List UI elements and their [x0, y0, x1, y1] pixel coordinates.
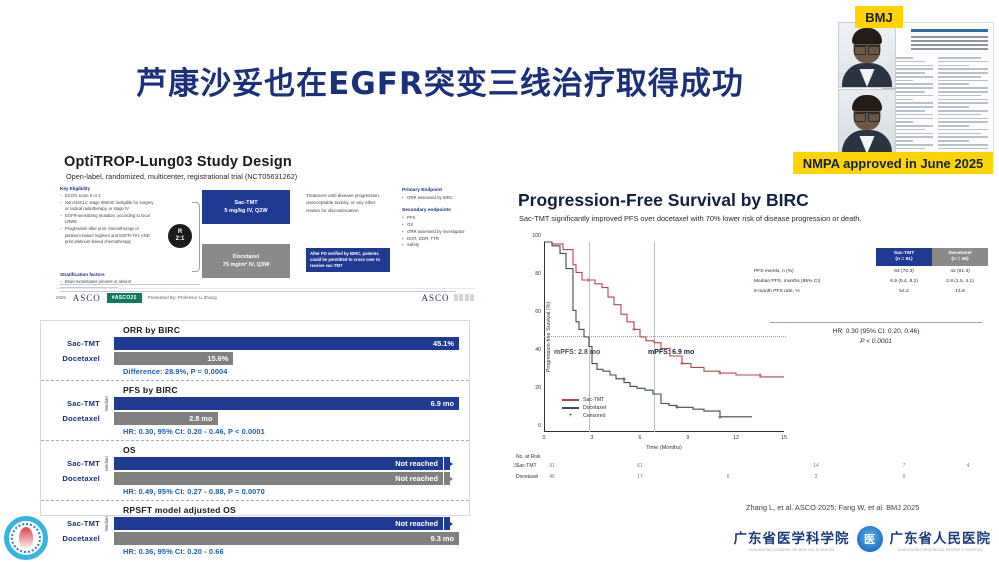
- cell-value-exp: 64 (70.3): [876, 266, 932, 276]
- group-statistic: HR: 0.36, 95% CI: 0.20 - 0.66: [123, 547, 459, 556]
- author-portrait-2: [838, 89, 896, 155]
- x-tick: 12: [733, 435, 739, 441]
- bar-track: 45.1%: [114, 337, 459, 350]
- group-statistic: HR: 0.30, 95% CI: 0.20 - 0.46, P < 0.000…: [123, 427, 459, 436]
- list-item: Non-NSCLC stage IIIB/IIIC ineligible for…: [60, 200, 156, 212]
- bar-value: 15.6%: [207, 354, 228, 363]
- paper-columns: [882, 57, 988, 150]
- emblem-flame-icon: [19, 527, 33, 549]
- x-tick: 0: [543, 435, 546, 441]
- axis-label: Median: [105, 456, 114, 471]
- eligibility-block: Key Eligibility ECOG score 0 or 1 Non-NS…: [60, 186, 156, 246]
- row-label: Sac-TMT: [49, 399, 105, 408]
- efficacy-group-orr: ORR by BIRC Sac-TMT 45.1% Docetaxel 15.6…: [41, 321, 469, 380]
- group-title: RPSFT model adjusted OS: [123, 505, 459, 515]
- y-tick: 60: [535, 309, 541, 315]
- efficacy-group-os: OS Sac-TMT Median Not reached Docetaxel …: [41, 440, 469, 500]
- legend-swatch-docetaxel: [562, 407, 579, 408]
- bar-value: 2.8 mo: [189, 414, 212, 423]
- column-header-blank: [752, 248, 876, 266]
- bar-track: Not reached: [114, 472, 459, 485]
- header-line-2: (n = 46): [951, 257, 968, 262]
- glasses-icon: [854, 45, 880, 52]
- legend-label: Docetaxel: [583, 405, 606, 411]
- bar-fill: 45.1%: [114, 337, 459, 350]
- author-portrait-1: [838, 22, 896, 88]
- risk-value: 7: [903, 463, 906, 469]
- censor-marks: [586, 278, 762, 377]
- bar-track: 15.6%: [114, 352, 459, 365]
- hospital-name-en: GUANGDONG PROVINCIAL PEOPLE'S HOSPITAL: [897, 548, 983, 552]
- bar-track: 6.9 mo: [114, 397, 459, 410]
- endpoints-block: Primary Endpoint ORR assessed by BIRC Se…: [402, 188, 476, 249]
- legend-swatch-sac-tmt: [562, 399, 579, 400]
- table-row: Median PFS, months (95% CI) 6.9 (5.4, 8.…: [752, 276, 988, 286]
- citation-text: Zhang L, et al. ASCO 2025; Fang W, et al…: [746, 503, 919, 512]
- km-title: Progression-Free Survival by BIRC: [518, 190, 809, 211]
- asco-logo-secondary: ASCO: [421, 293, 449, 303]
- efficacy-group-rpsft-os: RPSFT model adjusted OS Sac-TMT Median N…: [41, 500, 469, 560]
- x-tick: 6: [639, 435, 642, 441]
- table-row: PFS events, n (%) 64 (70.3) 42 (91.3): [752, 266, 988, 276]
- list-item: Safety: [402, 242, 476, 249]
- bmj-journal-badge: BMJ: [855, 6, 903, 28]
- portrait-hair: [852, 28, 882, 44]
- row-label: Sac-TMT: [49, 459, 105, 468]
- risk-row-label: Docetaxel: [516, 474, 538, 480]
- list-item: ORR assessed by BIRC: [402, 195, 476, 202]
- table-header-row: Sac-TMT (n = 91) Docetaxel (n = 46): [752, 248, 988, 266]
- risk-value: 91: [549, 463, 555, 469]
- row-label: Sac-TMT: [49, 519, 105, 528]
- row-label: PFS events, n (%): [752, 266, 876, 276]
- y-tick: 0: [538, 423, 541, 429]
- row-label: Docetaxel: [49, 534, 105, 543]
- y-tick: 80: [535, 271, 541, 277]
- randomization-node: R 2:1: [168, 224, 192, 248]
- legend-item: Sac-TMT: [562, 396, 606, 404]
- row-label: Docetaxel: [49, 474, 105, 483]
- asco-hashtag-badge: #ASCO25: [107, 293, 142, 303]
- km-legend: Sac-TMT Docetaxel + Censored: [562, 396, 606, 420]
- slide-canvas: 芦康沙妥也在EGFR突变三线治疗取得成功 BMJ: [0, 0, 999, 562]
- eligibility-list: ECOG score 0 or 1 Non-NSCLC stage IIIB/I…: [60, 193, 156, 245]
- asco-decor-blocks: [454, 294, 475, 301]
- legend-label: Sac-TMT: [583, 397, 604, 403]
- paper-rule: [911, 29, 988, 32]
- row-label: Sac-TMT: [49, 339, 105, 348]
- risk-row-docetaxel: Docetaxel 46 17 6 2 0: [516, 474, 986, 485]
- risk-value: 14: [813, 463, 819, 469]
- p-value-text: P < 0.0001: [770, 338, 982, 345]
- x-tick: 3: [591, 435, 594, 441]
- bar-track: 2.8 mo: [114, 412, 459, 425]
- bar-track: Not reached: [114, 457, 459, 470]
- km-curve-sac-tmt: [544, 242, 784, 377]
- paper-column-right: [938, 57, 989, 150]
- list-item: DCR, DOR, TTR: [402, 236, 476, 243]
- risk-heading: No. at Risk: [516, 454, 986, 460]
- x-tick: 15: [781, 435, 787, 441]
- efficacy-group-pfs: PFS by BIRC Sac-TMT Median 6.9 mo Doceta…: [41, 380, 469, 440]
- bar-row: Docetaxel 9.3 mo: [49, 532, 459, 545]
- list-item: Progression after prior chemotherapy or …: [60, 226, 156, 244]
- bar-row: Sac-TMT Median Not reached: [49, 457, 459, 470]
- bar-value: Not reached: [395, 519, 438, 528]
- axis-label: Median: [105, 396, 114, 411]
- list-item: PFS: [402, 215, 476, 222]
- list-item: EGFR-sensitizing mutation, according to …: [60, 213, 156, 225]
- risk-value: 17: [637, 474, 643, 480]
- header-line-2: (n = 91): [895, 257, 912, 262]
- stratification-heading: Stratification factors: [60, 272, 160, 277]
- arm-dose: 5 mg/kg IV, Q2W: [224, 207, 267, 215]
- y-tick: 40: [535, 347, 541, 353]
- legend-item: + Censored: [562, 412, 606, 420]
- treatment-arm-experimental: Sac-TMT 5 mg/kg IV, Q2W: [202, 190, 290, 224]
- stratification-block: Stratification factors Brain metastases …: [60, 272, 160, 284]
- bar-fill: 15.6%: [114, 352, 233, 365]
- secondary-endpoint-heading: Secondary endpoints: [402, 208, 476, 213]
- treatment-duration-note: Treatment until disease progression, una…: [306, 192, 388, 214]
- bar-fill: Not reached: [114, 457, 443, 470]
- group-title: OS: [123, 445, 459, 455]
- cell-value-exp: 6.9 (5.4, 8.2): [876, 276, 932, 286]
- row-label: Docetaxel: [49, 354, 105, 363]
- risk-value: 31: [513, 463, 519, 469]
- header-line-1: Docetaxel: [948, 251, 971, 256]
- randomization-label: R: [178, 229, 182, 236]
- bar-row: Sac-TMT Median Not reached: [49, 517, 459, 530]
- cell-value-ctl: 2.8 (1.5, 4.1): [932, 276, 988, 286]
- risk-value: 61: [637, 463, 643, 469]
- randomization-brace: [192, 202, 200, 272]
- nmpa-approval-banner: NMPA approved in June 2025: [793, 152, 993, 174]
- arm-dose: 75 mg/m² IV, Q3W: [223, 261, 270, 269]
- x-tick: 9: [687, 435, 690, 441]
- glasses-icon: [854, 112, 880, 119]
- risk-value: 46: [549, 474, 555, 480]
- treatment-arm-control: Docetaxel 75 mg/m² IV, Q3W: [202, 244, 290, 278]
- legend-label: Censored: [583, 413, 606, 419]
- bar-value: Not reached: [395, 474, 438, 483]
- km-subtitle: Sac-TMT significantly improved PFS over …: [519, 214, 861, 223]
- primary-endpoint-list: ORR assessed by BIRC: [402, 195, 476, 202]
- arrow-head-icon: [444, 472, 459, 485]
- asco-logo: ASCO: [73, 293, 101, 303]
- row-label: Median PFS, months (95% CI): [752, 276, 876, 286]
- table-row: 6-month PFS rate, % 54.2 14.8: [752, 286, 988, 296]
- study-design-heading: OptiTROP-Lung03 Study Design: [64, 154, 292, 170]
- hospital-name-cn: 广东省人民医院: [890, 527, 992, 547]
- bar-fill: 9.3 mo: [114, 532, 459, 545]
- km-summary-table: Sac-TMT (n = 91) Docetaxel (n = 46) PFS …: [752, 248, 988, 296]
- page-title: 芦康沙妥也在EGFR突变三线治疗取得成功: [130, 58, 750, 103]
- km-panel: Progression-Free Survival by BIRC Sac-TM…: [508, 186, 992, 516]
- column-header-docetaxel: Docetaxel (n = 46): [932, 248, 988, 266]
- bar-fill: 2.8 mo: [114, 412, 218, 425]
- arm-name: Sac-TMT: [234, 199, 257, 207]
- institute-name-cn: 广东省医学科学院: [734, 527, 850, 547]
- crossover-note: After PD verified by BIRC, patients coul…: [306, 248, 390, 272]
- secondary-endpoint-list: PFS OS ORR assessed by investigator DCR,…: [402, 215, 476, 249]
- list-item: ORR assessed by investigator: [402, 229, 476, 236]
- axis-label: Median: [105, 516, 114, 531]
- group-title: ORR by BIRC: [123, 325, 459, 335]
- cell-value-exp: 54.2: [876, 286, 932, 296]
- bar-track: Not reached: [114, 517, 459, 530]
- bar-value: 45.1%: [433, 339, 454, 348]
- risk-value: 0: [903, 474, 906, 480]
- bar-row: Sac-TMT 45.1%: [49, 337, 459, 350]
- group-statistic: Difference: 28.9%, P = 0.0004: [123, 367, 459, 376]
- bar-fill: 6.9 mo: [114, 397, 459, 410]
- header-line-1: Sac-TMT: [894, 251, 914, 256]
- primary-endpoint-heading: Primary Endpoint: [402, 188, 476, 193]
- arrow-head-icon: [444, 457, 459, 470]
- eligibility-heading: Key Eligibility: [60, 186, 156, 191]
- hazard-ratio-text: HR: 0.30 (95% CI: 0.20, 0.46): [770, 328, 982, 335]
- km-plot: Progression-free Survival (%) 100 80 60 …: [544, 242, 784, 432]
- group-title: PFS by BIRC: [123, 385, 459, 395]
- institute-logo: 广东省医学科学院 GUANGDONG ACADEMY OF MEDICAL SC…: [734, 527, 850, 552]
- organization-logos-right: 广东省医学科学院 GUANGDONG ACADEMY OF MEDICAL SC…: [734, 522, 992, 556]
- row-label: Docetaxel: [49, 414, 105, 423]
- cell-value-ctl: 42 (91.3): [932, 266, 988, 276]
- asco-footer: 2025 ASCO #ASCO25 Presented By: Professo…: [56, 288, 474, 304]
- plus-icon: +: [562, 413, 579, 419]
- group-statistic: HR: 0.49, 95% CI: 0.27 - 0.88, P = 0.007…: [123, 487, 459, 496]
- study-design-subheading: Open-label, randomized, multicenter, reg…: [66, 172, 297, 181]
- randomization-ratio: 2:1: [176, 236, 185, 243]
- risk-value: 2: [815, 474, 818, 480]
- bar-fill: Not reached: [114, 472, 443, 485]
- organization-emblem-left: [4, 516, 48, 560]
- list-item: OS: [402, 222, 476, 229]
- bar-row: Docetaxel 15.6%: [49, 352, 459, 365]
- bar-fill: Not reached: [114, 517, 443, 530]
- presented-by-label: Presented By: Professor Li Zhang: [148, 295, 217, 300]
- bar-value: 9.3 mo: [431, 534, 454, 543]
- number-at-risk-table: No. at Risk Sac-TMT 91 61 31 14 7 4 Doce…: [516, 454, 986, 485]
- list-item: ECOG score 0 or 1: [60, 193, 156, 199]
- row-label: 6-month PFS rate, %: [752, 286, 876, 296]
- y-tick: 100: [532, 233, 541, 239]
- y-tick: 20: [535, 385, 541, 391]
- institute-name-en: GUANGDONG ACADEMY OF MEDICAL SCIENCES: [748, 548, 834, 552]
- stratification-item: Brain metastases present or absent: [60, 279, 160, 284]
- risk-value: 4: [967, 463, 970, 469]
- paper-headline-lines: [911, 36, 988, 52]
- censor-marks-control: [622, 377, 722, 419]
- asco-footer-right: ASCO: [421, 293, 474, 303]
- bar-value: Not reached: [395, 459, 438, 468]
- efficacy-bars-panel: ORR by BIRC Sac-TMT 45.1% Docetaxel 15.6…: [40, 320, 470, 516]
- portrait-hair: [852, 95, 882, 111]
- bar-row: Docetaxel Not reached: [49, 472, 459, 485]
- risk-row-sac-tmt: Sac-TMT 91 61 31 14 7 4: [516, 463, 986, 474]
- study-design-panel: OptiTROP-Lung03 Study Design Open-label,…: [44, 148, 482, 310]
- legend-item: Docetaxel: [562, 404, 606, 412]
- hospital-logo: 广东省人民医院 GUANGDONG PROVINCIAL PEOPLE'S HO…: [890, 527, 992, 552]
- hospital-emblem-icon: 医: [857, 526, 883, 552]
- column-header-sac-tmt: Sac-TMT (n = 91): [876, 248, 932, 266]
- bar-row: Sac-TMT Median 6.9 mo: [49, 397, 459, 410]
- bar-track: 9.3 mo: [114, 532, 459, 545]
- x-axis-label: Time (Months): [646, 445, 682, 451]
- hazard-ratio-box: HR: 0.30 (95% CI: 0.20, 0.46) P < 0.0001: [770, 322, 982, 345]
- arrow-head-icon: [444, 517, 459, 530]
- arm-name: Docetaxel: [233, 253, 259, 261]
- divider: [770, 322, 982, 323]
- risk-value: 6: [727, 474, 730, 480]
- cell-value-ctl: 14.8: [932, 286, 988, 296]
- km-curve-docetaxel: [544, 242, 752, 417]
- bar-row: Docetaxel 2.8 mo: [49, 412, 459, 425]
- asco-year: 2025: [56, 295, 66, 300]
- bar-value: 6.9 mo: [431, 399, 454, 408]
